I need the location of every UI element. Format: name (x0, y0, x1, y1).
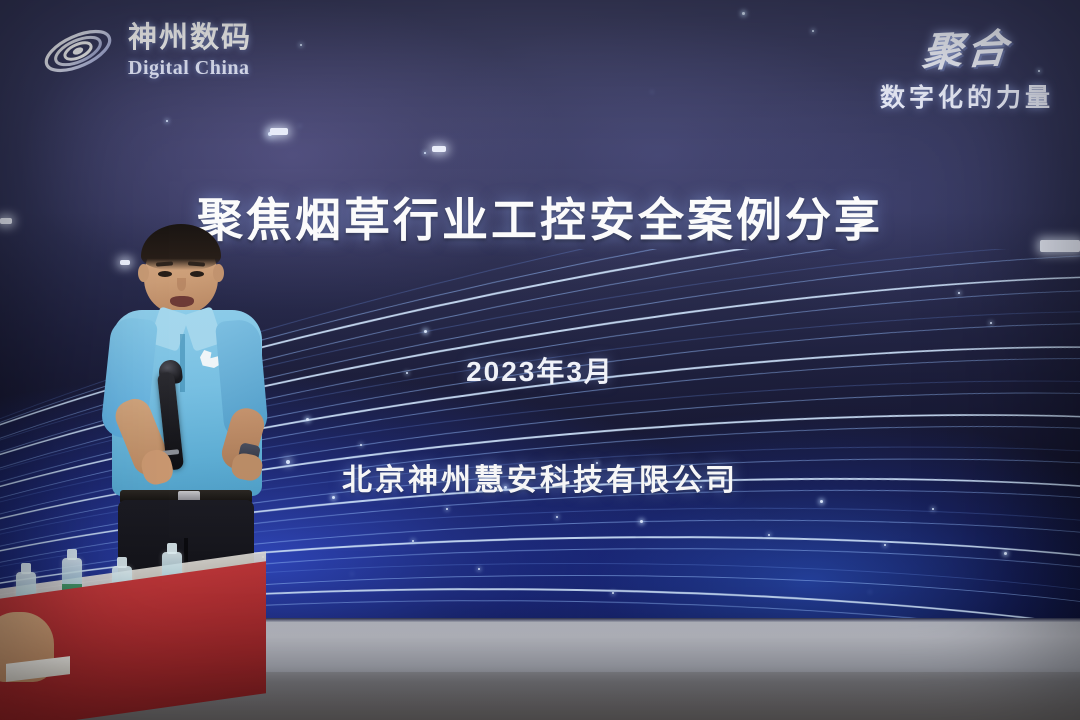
light-particle (640, 520, 643, 523)
light-particle (424, 330, 427, 333)
light-particle (424, 152, 426, 154)
light-particle (742, 12, 745, 15)
brand-wordmark: 神州数码 Digital China (128, 24, 252, 78)
speaker-eye-right (190, 271, 204, 277)
event-slogan: 聚合 数字化的力量 (880, 18, 1054, 114)
light-particle (884, 544, 886, 546)
light-particle (306, 418, 309, 421)
speaker-eye-left (158, 271, 172, 277)
brand-logo: 神州数码 Digital China (40, 20, 252, 82)
slogan-headline-wrap: 聚合 (880, 18, 1054, 76)
speaker-ear-right (213, 264, 224, 282)
brand-name-en: Digital China (128, 58, 252, 78)
light-particle (812, 30, 814, 32)
light-flare (432, 146, 446, 152)
galaxy-swirl-icon (40, 20, 116, 82)
conference-stage-photo: 神州数码 Digital China 聚合 数字化的力量 聚焦烟草行业工控安全案… (0, 0, 1080, 720)
light-particle (932, 508, 934, 510)
light-particle (820, 500, 823, 503)
light-particle (360, 444, 362, 446)
light-particle (300, 44, 302, 46)
light-particle (478, 568, 480, 570)
light-particle (166, 120, 168, 122)
light-particle (958, 292, 960, 294)
light-particle (1004, 552, 1007, 555)
light-particle (612, 592, 614, 594)
slogan-headline: 聚合 (920, 16, 1014, 79)
speaker-nose (177, 278, 186, 291)
light-particle (768, 534, 770, 536)
light-flare (270, 128, 288, 135)
light-particle (412, 540, 414, 542)
speaker-mouth (170, 296, 194, 307)
light-particle (446, 508, 448, 510)
brand-name-cn: 神州数码 (128, 24, 252, 53)
light-particle (556, 516, 558, 518)
slogan-subline: 数字化的力量 (880, 78, 1054, 114)
light-particle (990, 322, 992, 324)
speaker-hair (141, 224, 221, 270)
speaker-shirt-placket (180, 334, 185, 392)
speaker-ear-left (138, 264, 149, 282)
